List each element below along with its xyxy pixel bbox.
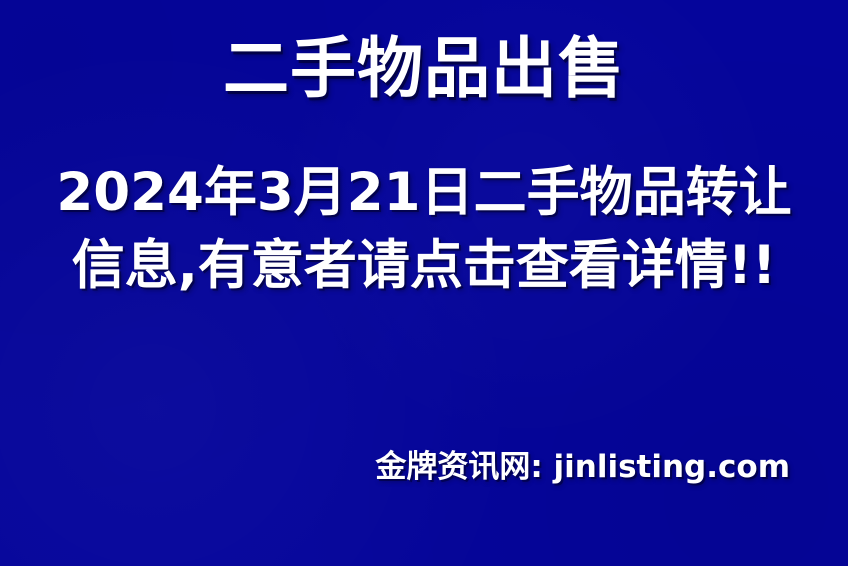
body-line-1: 2024年3月21日二手物品转让 [0, 156, 848, 229]
poster-title: 二手物品出售 [0, 36, 848, 102]
poster-canvas: 二手物品出售 2024年3月21日二手物品转让 信息,有意者请点击查看详情!! … [0, 0, 848, 566]
body-line-2: 信息,有意者请点击查看详情!! [0, 229, 848, 302]
poster-body: 2024年3月21日二手物品转让 信息,有意者请点击查看详情!! [0, 156, 848, 302]
poster-footer-source: 金牌资讯网: jinlisting.com [375, 452, 790, 483]
